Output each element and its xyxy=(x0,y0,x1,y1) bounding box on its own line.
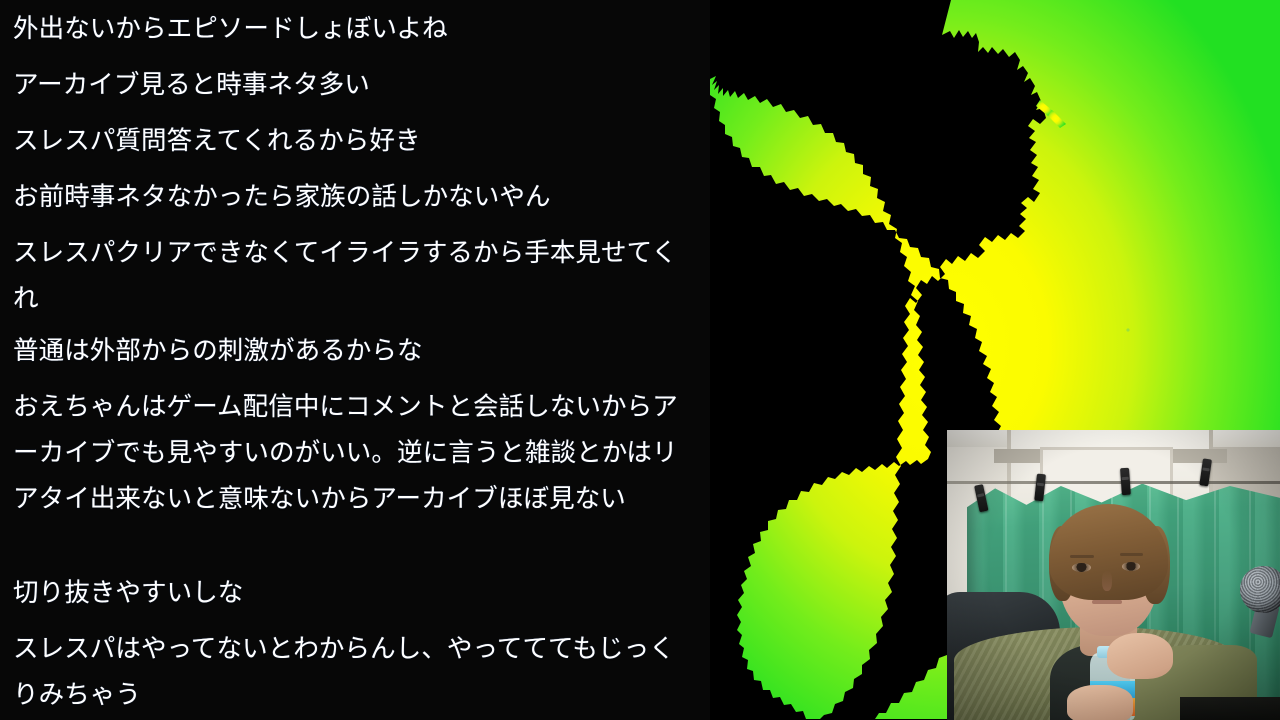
hand-upper xyxy=(1107,633,1174,679)
chat-comment: アーカイブ見ると時事ネタ多い xyxy=(13,62,693,108)
nose xyxy=(1102,571,1113,591)
chat-comment: スレスパ質問答えてくれるから好き xyxy=(13,118,693,164)
hand-lower xyxy=(1067,685,1134,720)
eyebrow-right xyxy=(1120,553,1143,556)
stream-screen: 外出ないからエピソードしょぼいよねアーカイブ見ると時事ネタ多いスレスパ質問答えて… xyxy=(0,0,1280,720)
chat-comment: 普通は外部からの刺激があるからな xyxy=(13,328,693,374)
chat-comment: スレスパクリアできなくてイライラするから手本見せてくれ xyxy=(13,230,693,322)
eye-right xyxy=(1122,562,1141,571)
chat-comment: おえちゃんはゲーム配信中にコメントと会話しないからアーカイブでも見やすいのがいい… xyxy=(13,384,693,522)
eyebrow-left xyxy=(1070,555,1093,558)
desk-edge xyxy=(1180,697,1280,720)
microphone-icon xyxy=(1240,566,1280,612)
curtain-rod xyxy=(947,481,1280,484)
chat-comment: スレスパはやってないとわからんし、やってててもじっくりみちゃう xyxy=(13,626,693,718)
live-chat-comment-feed: 外出ないからエピソードしょぼいよねアーカイブ見ると時事ネタ多いスレスパ質問答えて… xyxy=(0,0,710,720)
chat-comment: 切り抜きやすいしな xyxy=(13,570,693,616)
islet-dot xyxy=(1126,328,1129,331)
mouth xyxy=(1092,600,1122,604)
chat-comment: 外出ないからエピソードしょぼいよね xyxy=(13,6,693,52)
chat-comment: お前時事ネタなかったら家族の話しかないやん xyxy=(13,174,693,220)
streamer-webcam-overlay[interactable] xyxy=(947,430,1280,720)
